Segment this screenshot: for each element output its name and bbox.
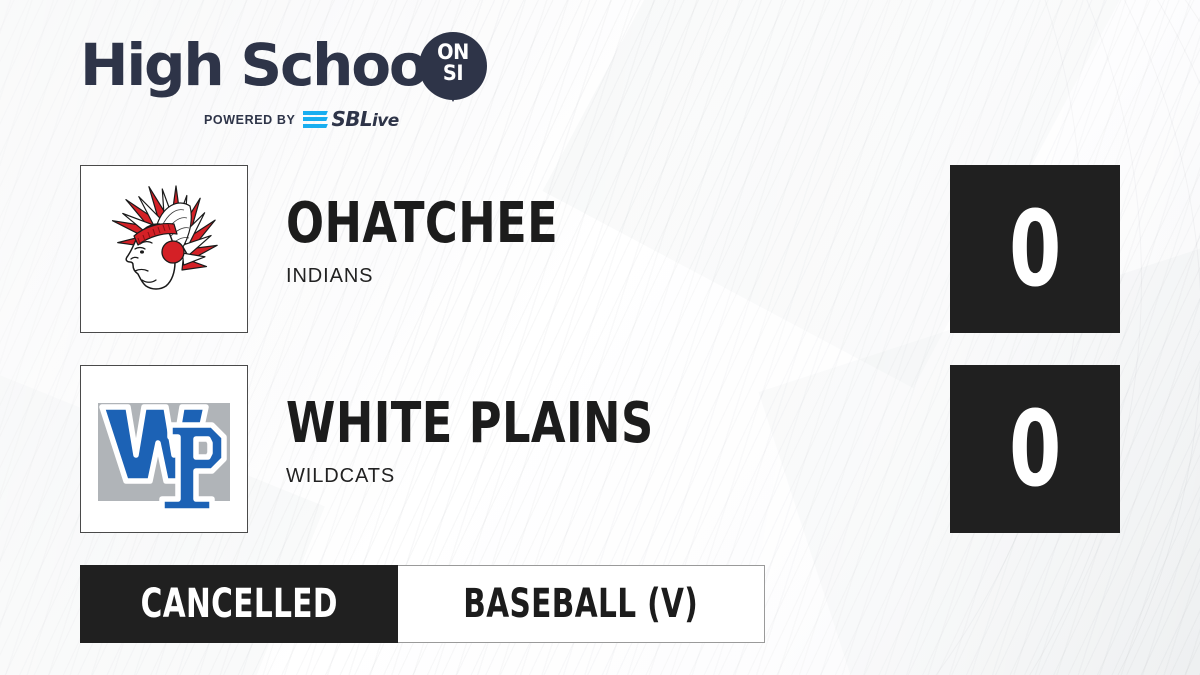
brand-header: High School ON SI POWERED BY SBLive [80,36,510,136]
team-mascot-away: INDIANS [286,265,906,288]
score-value-away: 0 [1009,197,1061,301]
status-badge: CANCELLED [80,565,398,643]
team-row-away: OHATCHEE INDIANS 0 [80,165,1120,335]
sport-label: BASEBALL (V) [464,581,699,627]
team-name-home: WHITE PLAINS [286,397,782,451]
on-si-pin-icon: ON SI [419,32,487,100]
powered-by-label: POWERED BY [204,113,295,127]
powered-by-row: POWERED BY SBLive [204,109,399,130]
pin-badge-text: ON SI [422,42,485,84]
sblive-wordmark: SBLive [331,109,398,130]
game-status-bar: CANCELLED BASEBALL (V) [80,565,765,643]
score-value-home: 0 [1009,397,1061,501]
team-row-home: WHITE PLAINS WILDCATS 0 [80,365,1120,535]
score-box-home: 0 [950,365,1120,533]
indian-chief-head-logo-icon [89,174,239,324]
team-mascot-home: WILDCATS [286,465,906,488]
sblive-slash-icon [303,110,329,129]
pin-badge-line-on: ON [422,42,485,63]
team-info-away: OHATCHEE INDIANS [286,197,906,288]
team-logo-card-away [80,165,248,333]
pin-badge-line-si: SI [422,63,485,84]
brand-wordmark: High School [80,36,444,94]
scoreboard-graphic: High School ON SI POWERED BY SBLive [0,0,1200,675]
status-badge-label: CANCELLED [141,581,338,627]
team-logo-card-home [80,365,248,533]
team-name-away: OHATCHEE [286,197,782,251]
score-box-away: 0 [950,165,1120,333]
team-info-home: WHITE PLAINS WILDCATS [286,397,906,488]
sblive-wordmark-main: SBL [331,107,372,131]
sblive-wordmark-suffix: ive [372,111,399,131]
sport-label-block: BASEBALL (V) [398,565,764,643]
wp-monogram-logo-icon [96,381,232,517]
sblive-logo: SBLive [303,109,398,130]
